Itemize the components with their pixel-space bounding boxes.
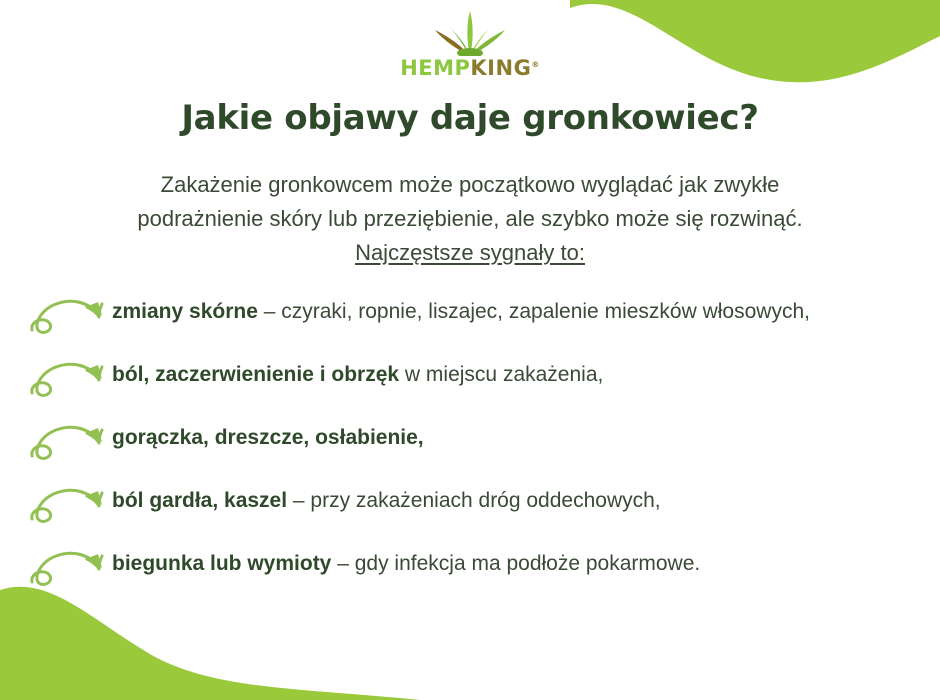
symptom-lead: biegunka lub wymioty xyxy=(112,552,331,575)
symptom-rest: – czyraki, ropnie, liszajec, zapalenie m… xyxy=(258,300,810,323)
list-item: gorączka, dreszcze, osłabienie, xyxy=(26,418,916,464)
infographic-canvas: HEMPKING® Jakie objawy daje gronkowiec? … xyxy=(0,0,940,700)
symptom-rest: w miejscu zakażenia, xyxy=(399,363,603,386)
symptom-lead: ból, zaczerwienienie i obrzęk xyxy=(112,363,399,386)
symptom-rest: – gdy infekcja ma podłoże pokarmowe. xyxy=(331,552,700,575)
intro-line-3-underlined: Najczęstsze sygnały to: xyxy=(355,240,585,265)
list-item: biegunka lub wymioty – gdy infekcja ma p… xyxy=(26,544,916,590)
page-title: Jakie objawy daje gronkowiec? xyxy=(0,98,940,138)
curved-arrow-icon xyxy=(26,546,112,590)
wave-bottom-left-decoration xyxy=(0,580,420,700)
list-item: zmiany skórne – czyraki, ropnie, liszaje… xyxy=(26,292,916,338)
symptom-rest: – przy zakażeniach dróg oddechowych, xyxy=(287,489,661,512)
symptom-lead: gorączka, dreszcze, osłabienie, xyxy=(112,426,424,449)
symptom-list: zmiany skórne – czyraki, ropnie, liszaje… xyxy=(26,292,916,590)
symptom-lead: zmiany skórne xyxy=(112,300,258,323)
registered-trademark-icon: ® xyxy=(531,60,540,69)
curved-arrow-icon xyxy=(26,483,112,527)
list-item: ból gardła, kaszel – przy zakażeniach dr… xyxy=(26,481,916,527)
brand-wordmark: HEMPKING® xyxy=(400,58,540,79)
intro-line-1: Zakażenie gronkowcem może początkowo wyg… xyxy=(161,172,780,197)
symptom-lead: ból gardła, kaszel xyxy=(112,489,287,512)
symptom-text: ból, zaczerwienienie i obrzęk w miejscu … xyxy=(112,355,916,391)
symptom-text: gorączka, dreszcze, osłabienie, xyxy=(112,418,916,454)
hemp-leaf-icon xyxy=(431,10,509,56)
intro-paragraph: Zakażenie gronkowcem może początkowo wyg… xyxy=(70,168,870,270)
curved-arrow-icon xyxy=(26,420,112,464)
symptom-text: biegunka lub wymioty – gdy infekcja ma p… xyxy=(112,544,916,580)
curved-arrow-icon xyxy=(26,357,112,401)
symptom-text: zmiany skórne – czyraki, ropnie, liszaje… xyxy=(112,292,916,328)
intro-line-2: podrażnienie skóry lub przeziębienie, al… xyxy=(137,206,802,231)
brand-logo: HEMPKING® xyxy=(0,10,940,79)
wordmark-hemp: HEMP xyxy=(400,56,470,80)
symptom-text: ból gardła, kaszel – przy zakażeniach dr… xyxy=(112,481,916,517)
list-item: ból, zaczerwienienie i obrzęk w miejscu … xyxy=(26,355,916,401)
wordmark-king: KING xyxy=(470,56,531,80)
curved-arrow-icon xyxy=(26,294,112,338)
